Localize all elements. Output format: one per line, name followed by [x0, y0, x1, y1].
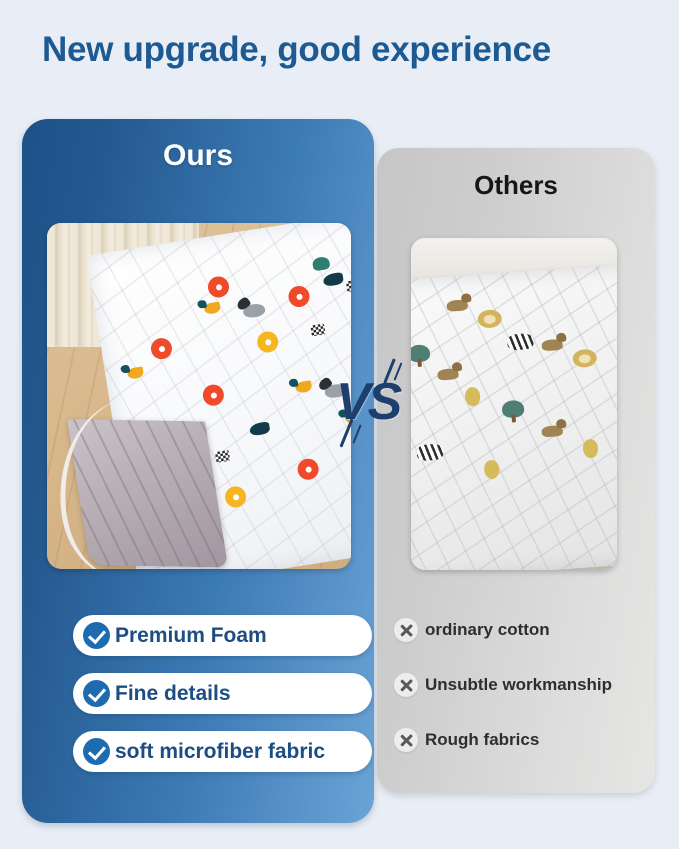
versus-badge: VS [332, 358, 410, 454]
x-circle-icon [394, 728, 418, 752]
drawback-label: ordinary cotton [425, 620, 550, 640]
ours-panel: Ours [22, 119, 374, 823]
drawback-item-1: Unsubtle workmanship [394, 673, 612, 697]
others-panel: Others [377, 148, 655, 793]
drawback-item-2: Rough fabrics [394, 728, 539, 752]
check-circle-icon [83, 622, 110, 649]
feature-pill-2: soft microfiber fabric [73, 731, 372, 772]
others-heading: Others [377, 170, 655, 201]
drawback-label: Rough fabrics [425, 730, 539, 750]
feature-pill-0: Premium Foam [73, 615, 372, 656]
ordinary-quilted-mat [411, 264, 617, 570]
feature-pill-1: Fine details [73, 673, 372, 714]
drawback-item-0: ordinary cotton [394, 618, 550, 642]
check-circle-icon [83, 738, 110, 765]
infographic-root: New upgrade, good experience Ours [0, 0, 679, 849]
feature-label: Premium Foam [115, 624, 267, 648]
page-title: New upgrade, good experience [42, 30, 642, 70]
x-circle-icon [394, 673, 418, 697]
others-product-photo [411, 238, 617, 570]
check-circle-icon [83, 680, 110, 707]
feature-label: Fine details [115, 682, 231, 706]
versus-label: VS [336, 372, 399, 432]
drawback-label: Unsubtle workmanship [425, 675, 612, 695]
feature-label: soft microfiber fabric [115, 740, 325, 764]
ours-heading: Ours [22, 139, 374, 173]
x-circle-icon [394, 618, 418, 642]
ours-product-photo [47, 223, 351, 569]
